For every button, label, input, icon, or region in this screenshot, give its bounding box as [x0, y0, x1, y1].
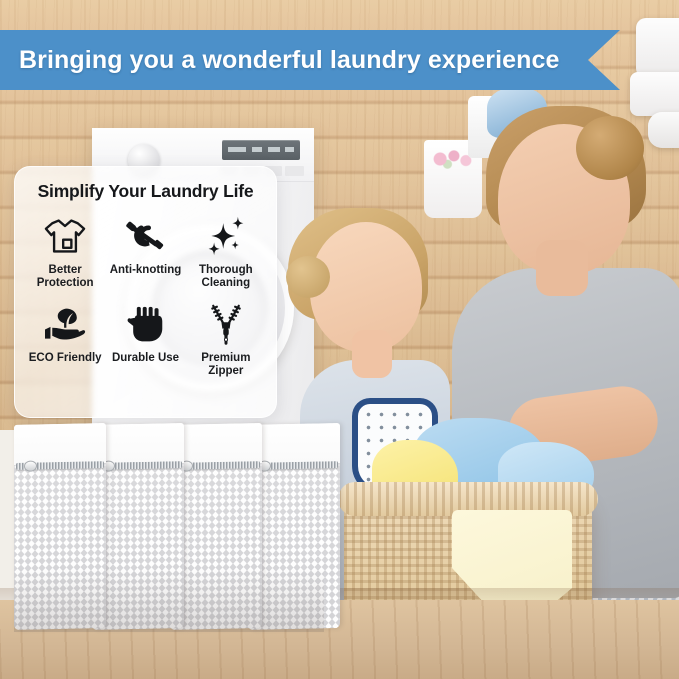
washer-display: [222, 140, 300, 160]
feature-durable-use: Durable Use: [105, 300, 185, 378]
hand-sprout-icon: [42, 300, 88, 350]
bag-top-band: [14, 423, 106, 465]
mother-hair-bun: [576, 116, 644, 180]
feature-label: Durable Use: [112, 352, 179, 365]
mother-neck: [536, 240, 588, 296]
sparkle-icon: [203, 210, 249, 262]
feature-anti-knotting: Anti-knotting: [105, 210, 185, 290]
feature-premium-zipper: PremiumZipper: [186, 300, 266, 378]
folded-towel: [648, 112, 679, 148]
child-neck: [352, 330, 392, 378]
feature-eco-friendly: ECO Friendly: [25, 300, 105, 378]
zipper-icon: [205, 300, 247, 350]
mesh-laundry-bag: [14, 423, 106, 630]
feature-better-protection: BetterProtection: [25, 210, 105, 290]
feature-label: ECO Friendly: [29, 352, 102, 365]
tshirt-icon: [43, 210, 87, 262]
mesh-laundry-bags: [14, 424, 324, 632]
feature-label: ThoroughCleaning: [199, 264, 253, 290]
child-hair-bun: [286, 256, 330, 298]
product-marketing-image: Bringing you a wonderful laundry experie…: [0, 0, 679, 679]
strong-hand-icon: [125, 300, 165, 350]
features-row-1: BetterProtection Anti-kno: [25, 210, 266, 290]
features-heading: Simplify Your Laundry Life: [25, 181, 266, 202]
folded-towel: [630, 72, 679, 116]
features-row-2: ECO Friendly Durable Use: [25, 300, 266, 378]
feature-label: BetterProtection: [37, 264, 94, 290]
feature-thorough-cleaning: ThoroughCleaning: [186, 210, 266, 290]
feature-label: PremiumZipper: [201, 352, 250, 378]
headline-banner: Bringing you a wonderful laundry experie…: [0, 30, 620, 90]
headline-text: Bringing you a wonderful laundry experie…: [0, 46, 560, 75]
features-panel: Simplify Your Laundry Life BetterProtect…: [14, 166, 277, 418]
knot-icon: [123, 210, 167, 262]
feature-label: Anti-knotting: [110, 264, 182, 277]
folded-towel: [636, 18, 679, 78]
zipper-pull-icon: [24, 460, 37, 471]
